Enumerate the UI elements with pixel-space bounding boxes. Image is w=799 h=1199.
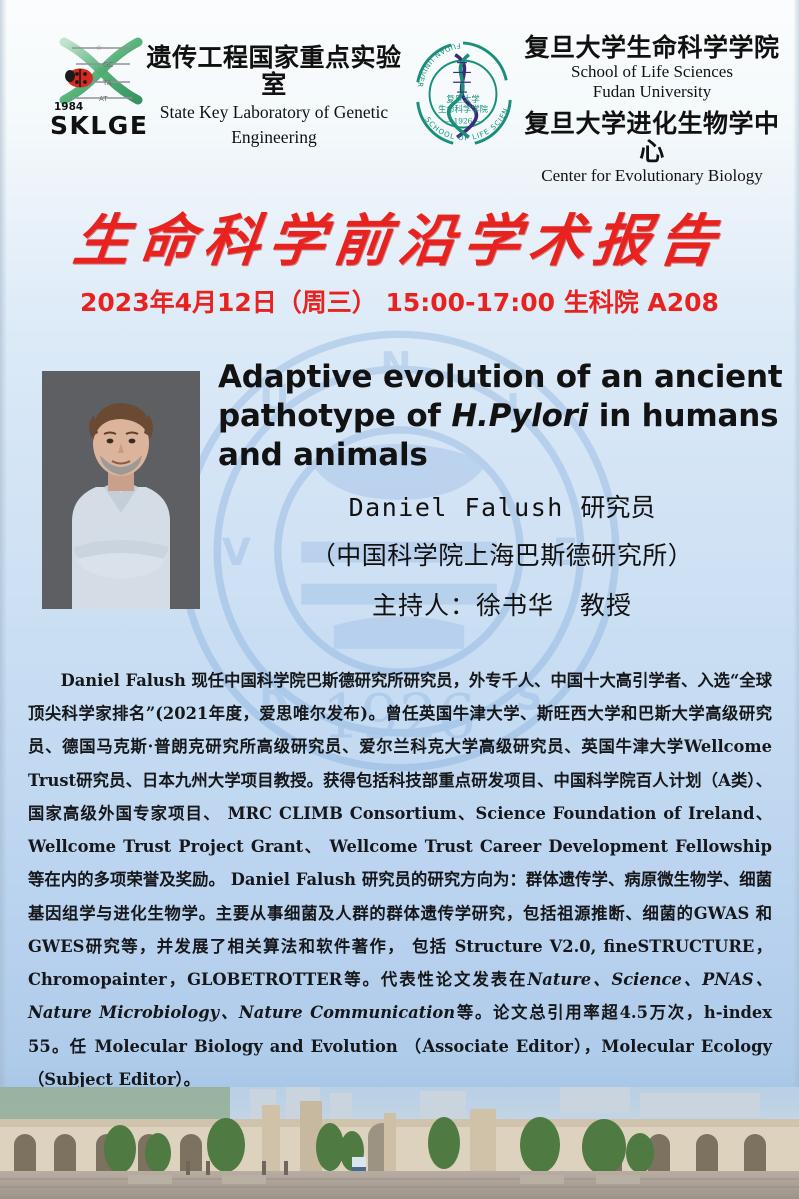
- talk-title-species: H.Pylori: [451, 398, 588, 434]
- seminar-poster: 1926 UNI VE RS: [0, 0, 799, 1199]
- fudan-school-name-cn: 复旦大学生命科学学院: [512, 34, 792, 62]
- sklge-name-en-line2: Engineering: [140, 127, 408, 148]
- talk-title-line2-suffix: in humans: [588, 398, 778, 434]
- event-datetime-venue: 2023年4月12日（周三） 15:00-17:00 生科院 A208: [0, 283, 799, 319]
- fudan-school-name-en-line1: School of Life Sciences: [512, 62, 792, 82]
- speaker-portrait: [42, 371, 200, 609]
- fudan-institution-names: 复旦大学生命科学学院 School of Life Sciences Fudan…: [512, 34, 792, 186]
- seal-inner-cn2: 生命科学学院: [438, 104, 489, 114]
- speaker-affiliation: （中国科学院上海巴斯德研究所）: [218, 536, 786, 572]
- seal-inner-cn1: 复旦大学: [446, 94, 479, 104]
- talk-title: Adaptive evolution of an ancient pathoty…: [218, 358, 786, 475]
- poster-header: ☆ GC TA AT 1984 SKLGE: [0, 0, 799, 180]
- svg-text:☆: ☆: [96, 44, 102, 52]
- seal-year: — 1926 —: [444, 117, 483, 126]
- sklge-acronym: SKLGE: [50, 111, 148, 140]
- sklge-name-en-line1: State Key Laboratory of Genetic: [140, 102, 408, 123]
- fudan-center-name-cn: 复旦大学进化生物学中心: [512, 110, 792, 166]
- talk-title-line1: Adaptive evolution of an ancient: [218, 359, 782, 395]
- talk-block: Adaptive evolution of an ancient pathoty…: [218, 358, 786, 622]
- sklge-lab-name: 遗传工程国家重点实验室 State Key Laboratory of Gene…: [140, 44, 408, 147]
- bio-part1: Daniel Falush 现任中国科学院巴斯德研究所研究员，外专千人、中国十大…: [28, 671, 772, 989]
- fudan-school-name-en-line2: Fudan University: [512, 82, 792, 102]
- campus-panorama-photo: [0, 1087, 799, 1199]
- talk-title-line2-prefix: pathotype of: [218, 398, 451, 434]
- speaker-biography: Daniel Falush 现任中国科学院巴斯德研究所研究员，外专千人、中国十大…: [28, 664, 772, 1096]
- fudan-school-seal-icon: 复旦大学 生命科学学院 — 1926 — FUDAN UNIVERSITY SC…: [404, 28, 522, 168]
- speaker-line: Daniel Falush 研究员: [218, 488, 786, 524]
- speaker-name: Daniel Falush: [349, 493, 564, 522]
- fudan-center-name-en: Center for Evolutionary Biology: [512, 166, 792, 186]
- series-title: 生命科学前沿学术报告: [0, 196, 799, 277]
- svg-text:TA: TA: [102, 79, 112, 87]
- speaker-title: 研究员: [580, 493, 655, 522]
- sklge-name-cn: 遗传工程国家重点实验室: [140, 44, 408, 98]
- talk-title-line3: and animals: [218, 437, 428, 473]
- host-line: 主持人：徐书华 教授: [218, 586, 786, 622]
- svg-text:GC: GC: [103, 61, 113, 69]
- svg-text:AT: AT: [99, 95, 108, 103]
